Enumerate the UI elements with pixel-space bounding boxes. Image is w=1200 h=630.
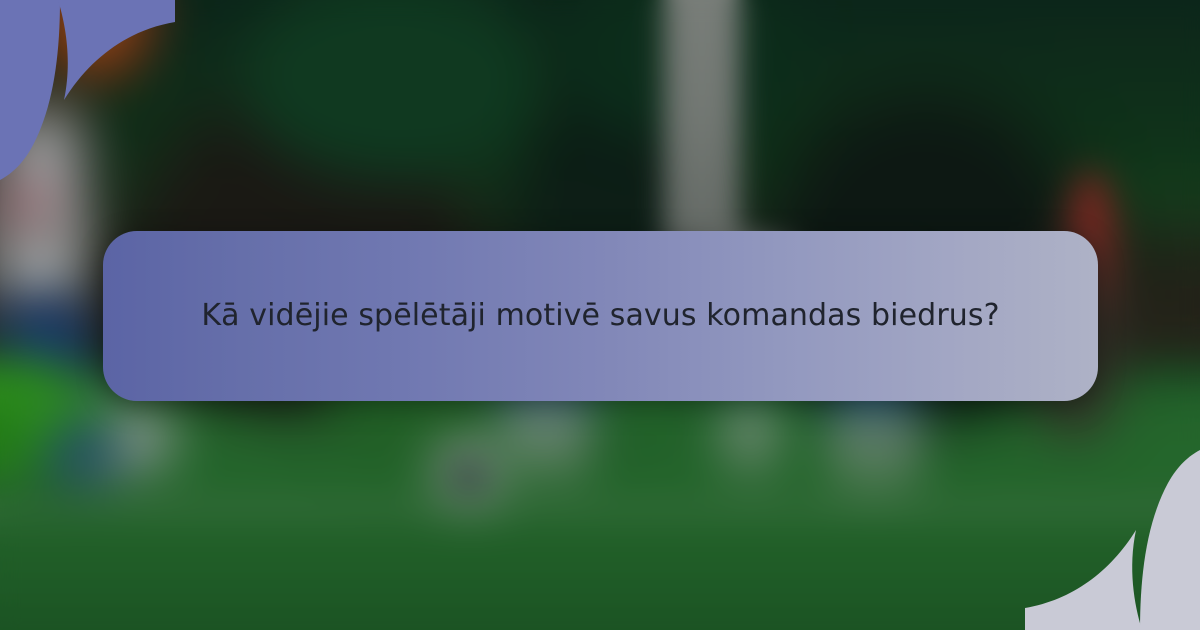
card-title-text: Kā vidējie spēlētāji motivē savus komand… [173,292,1029,341]
title-card: Kā vidējie spēlētāji motivē savus komand… [103,231,1098,401]
share-card-canvas: Kā vidējie spēlētāji motivē savus komand… [0,0,1200,630]
